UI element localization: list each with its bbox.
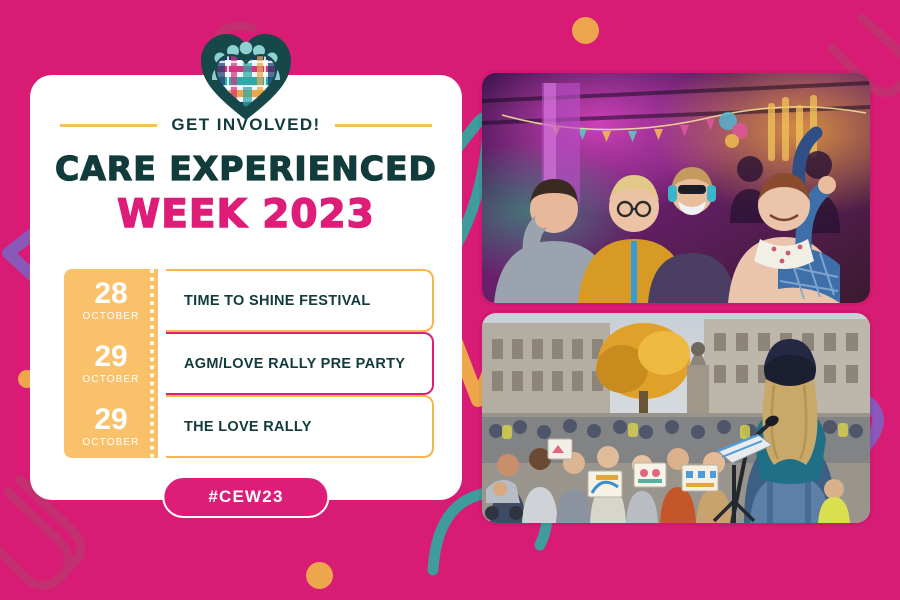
event-row-0[interactable]: 28 OCTOBER TIME TO SHINE FESTIVAL [64,269,434,332]
hashtag-badge[interactable]: #CEW23 [162,476,329,518]
care-experienced-heart-logo [198,28,294,124]
event-title: TIME TO SHINE FESTIVAL [166,269,434,332]
event-title: AGM/LOVE RALLY PRE PARTY [166,332,434,395]
event-day: 29 [94,405,127,435]
event-month: OCTOBER [83,311,140,322]
event-date: 28 OCTOBER [64,269,158,332]
event-date: 29 OCTOBER [64,332,158,395]
orange-dot-top-right [572,17,599,44]
photo-love-rally-crowd [482,313,870,523]
title-line-2: WEEK 2023 [30,192,462,237]
poster-canvas: GET INVOLVED! CARE EXPERIENCED WEEK 2023… [0,0,900,600]
rule-left [60,124,157,127]
photo-celebration-indoor [482,73,870,303]
title-line-1: CARE EXPERIENCED [30,149,462,188]
event-row-2[interactable]: 29 OCTOBER THE LOVE RALLY [64,395,434,458]
event-day: 29 [94,342,127,372]
event-month: OCTOBER [83,437,140,448]
rule-right [335,124,432,127]
orange-dot-bottom-center [306,562,333,589]
event-date: 29 OCTOBER [64,395,158,458]
event-day: 28 [94,279,127,309]
event-list: 28 OCTOBER TIME TO SHINE FESTIVAL 29 OCT… [64,269,434,458]
event-row-1[interactable]: 29 OCTOBER AGM/LOVE RALLY PRE PARTY [64,332,434,395]
event-title: THE LOVE RALLY [166,395,434,458]
event-month: OCTOBER [83,374,140,385]
info-card: GET INVOLVED! CARE EXPERIENCED WEEK 2023… [30,75,462,500]
